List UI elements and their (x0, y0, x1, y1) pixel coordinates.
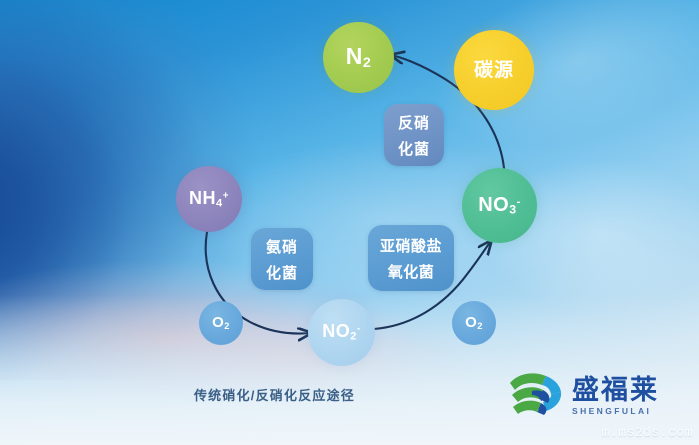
node-o2-left: O2 (199, 301, 243, 345)
node-o2-right: O2 (452, 301, 496, 345)
node-n2: N2 (323, 22, 394, 93)
node-o2-left-subscript: 2 (224, 321, 230, 331)
chip-denitrifying-bacteria: 反硝 化菌 (384, 104, 444, 166)
chip-denitrifying-bacteria-line2: 化菌 (398, 138, 430, 159)
node-n2-label: N (346, 43, 363, 69)
node-n2-subscript: 2 (363, 55, 371, 71)
chip-ammonia-oxidizing-bacteria: 氨硝 化菌 (251, 228, 313, 290)
shengfulai-swirl-logo-icon (508, 369, 566, 423)
company-logo: 盛福莱 SHENGFULAI (508, 366, 686, 426)
diagram-caption-text: 传统硝化/反硝化反应途径 (194, 385, 355, 404)
node-nh4-subscript: 4 (216, 197, 223, 209)
node-o2-right-label: O (465, 314, 477, 331)
chip-nitrite-oxidizing-bacteria: 亚硝酸盐 氧化菌 (368, 225, 454, 291)
node-nh4: NH4+ (176, 166, 242, 232)
node-o2-left-label: O (212, 314, 224, 331)
node-carbon-source-label: 碳源 (474, 61, 514, 80)
logo-pinyin-name: SHENGFULAI (572, 407, 659, 416)
node-no2-charge: - (357, 324, 361, 335)
node-no3-label: NO (478, 194, 509, 216)
node-no2-label: NO (322, 321, 350, 341)
node-o2-right-subscript: 2 (477, 321, 483, 331)
node-nh4-label: NH (189, 188, 216, 208)
chip-ammonia-oxidizing-bacteria-line1: 氨硝 (266, 236, 298, 257)
node-no3: NO3- (462, 168, 537, 243)
logo-chinese-name: 盛福莱 (572, 377, 659, 404)
nitrification-diagram-image: N2 碳源 NO3- NH4+ NO2- O2 O2 反硝 化菌 氨硝 (0, 0, 699, 445)
node-no3-subscript: 3 (509, 203, 516, 217)
node-carbon-source: 碳源 (454, 30, 534, 110)
node-no3-charge: - (517, 196, 521, 208)
node-no2: NO2- (308, 299, 375, 366)
site-watermark: m.ms2ds.com (602, 425, 693, 440)
chip-ammonia-oxidizing-bacteria-line2: 化菌 (266, 262, 298, 283)
chip-denitrifying-bacteria-line1: 反硝 (398, 112, 430, 133)
chip-nitrite-oxidizing-bacteria-line2: 氧化菌 (388, 261, 435, 282)
node-nh4-charge: + (223, 190, 229, 201)
chip-nitrite-oxidizing-bacteria-line1: 亚硝酸盐 (380, 235, 442, 256)
node-no2-subscript: 2 (350, 331, 357, 343)
logo-wordmark: 盛福莱 SHENGFULAI (572, 377, 659, 416)
